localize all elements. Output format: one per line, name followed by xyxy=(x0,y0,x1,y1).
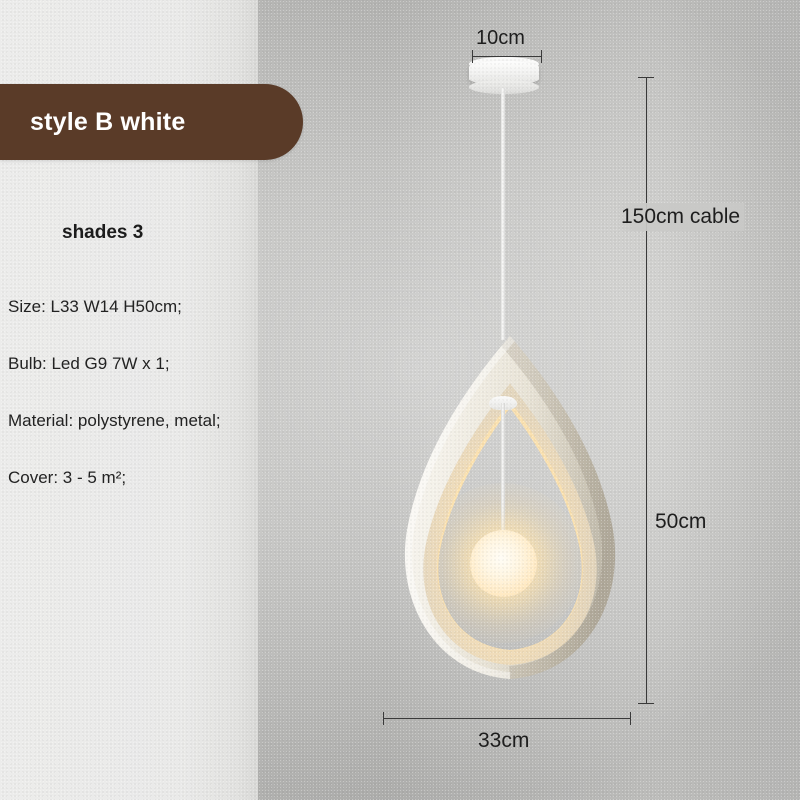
dimension-line-vertical xyxy=(646,77,647,703)
dimension-label-shade-height: 50cm xyxy=(655,510,706,534)
dimension-label-cable-length: 150cm cable xyxy=(617,203,744,231)
dimension-tick-canopy-right xyxy=(541,50,542,63)
style-banner-label: style B white xyxy=(30,108,185,137)
product-image: style B white shades 3 Size: L33 W14 H50… xyxy=(0,0,800,800)
shades-title: shades 3 xyxy=(62,222,143,244)
dimension-label-shade-width: 33cm xyxy=(478,729,529,753)
spec-line-cover: Cover: 3 - 5 m²; xyxy=(8,468,258,488)
dimension-line-width xyxy=(383,718,631,719)
dimension-tick-bottom xyxy=(638,703,654,704)
suspension-cable xyxy=(501,88,505,340)
teardrop-lamp-shade xyxy=(393,334,627,706)
bulb-stem xyxy=(501,403,505,535)
style-banner: style B white xyxy=(0,84,303,160)
spec-line-material: Material: polystyrene, metal; xyxy=(8,411,258,431)
dimension-label-canopy-width: 10cm xyxy=(476,27,525,50)
spec-line-bulb: Bulb: Led G9 7W x 1; xyxy=(8,354,258,374)
dimension-tick-canopy-left xyxy=(472,50,473,63)
spec-line-size: Size: L33 W14 H50cm; xyxy=(8,297,258,317)
dimension-tick-width-right xyxy=(630,712,631,725)
dimension-tick-width-left xyxy=(383,712,384,725)
dimension-tick-top xyxy=(638,77,654,78)
globe-bulb xyxy=(470,530,537,597)
dimension-line-canopy xyxy=(472,56,542,57)
spec-list: Size: L33 W14 H50cm; Bulb: Led G9 7W x 1… xyxy=(8,297,258,525)
